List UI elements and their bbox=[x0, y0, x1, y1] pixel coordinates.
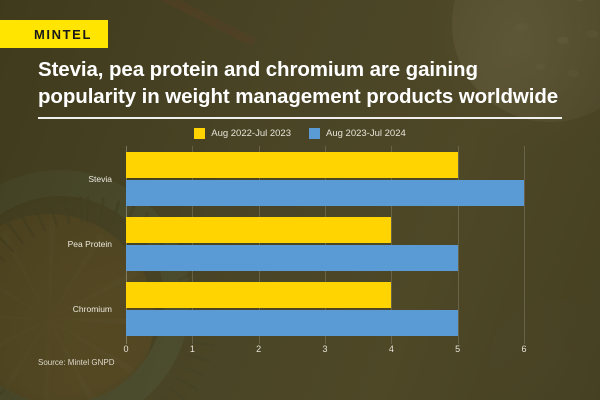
bar-pea-protein-current-period bbox=[126, 245, 458, 271]
x-axis-tick-0: 0 bbox=[123, 344, 128, 354]
plot-area bbox=[126, 146, 524, 341]
mintel-logo: MINTEL bbox=[0, 20, 108, 48]
legend-item-current-period: Aug 2023-Jul 2024 bbox=[309, 128, 406, 139]
page-title: Stevia, pea protein and chromium are gai… bbox=[38, 56, 578, 110]
y-axis-labels: Stevia Pea Protein Chromium bbox=[0, 146, 120, 341]
x-axis-tick-5: 5 bbox=[455, 344, 460, 354]
x-axis-tick-4: 4 bbox=[389, 344, 394, 354]
x-axis-tick-6: 6 bbox=[521, 344, 526, 354]
mintel-logo-text: MINTEL bbox=[34, 27, 92, 42]
legend-swatch-prev-period bbox=[194, 128, 205, 139]
gridline-6 bbox=[524, 146, 525, 344]
bar-stevia-prev-period bbox=[126, 152, 458, 178]
infographic-canvas: MINTEL Stevia, pea protein and chromium … bbox=[0, 0, 600, 400]
legend-label-prev-period: Aug 2022-Jul 2023 bbox=[211, 128, 291, 139]
source-caption: Source: Mintel GNPD bbox=[38, 358, 114, 367]
legend-label-current-period: Aug 2023-Jul 2024 bbox=[326, 128, 406, 139]
y-axis-label-chromium: Chromium bbox=[0, 276, 120, 341]
bar-chromium-current-period bbox=[126, 310, 458, 336]
legend-item-prev-period: Aug 2022-Jul 2023 bbox=[194, 128, 291, 139]
y-axis-label-stevia: Stevia bbox=[0, 146, 120, 211]
bar-chromium-prev-period bbox=[126, 282, 391, 308]
chart-legend: Aug 2022-Jul 2023 Aug 2023-Jul 2024 bbox=[0, 128, 600, 139]
bar-group-stevia bbox=[126, 146, 524, 211]
bar-stevia-current-period bbox=[126, 180, 524, 206]
bar-pea-protein-prev-period bbox=[126, 217, 391, 243]
y-axis-label-pea-protein: Pea Protein bbox=[0, 211, 120, 276]
legend-swatch-current-period bbox=[309, 128, 320, 139]
x-axis-labels: 0123456 bbox=[126, 342, 524, 362]
bar-group-chromium bbox=[126, 276, 524, 341]
x-axis-tick-2: 2 bbox=[256, 344, 261, 354]
title-divider bbox=[38, 117, 562, 119]
bar-group-pea-protein bbox=[126, 211, 524, 276]
bar-groups bbox=[126, 146, 524, 341]
x-axis-tick-3: 3 bbox=[322, 344, 327, 354]
bar-chart: Stevia Pea Protein Chromium bbox=[0, 146, 600, 361]
x-axis-tick-1: 1 bbox=[190, 344, 195, 354]
